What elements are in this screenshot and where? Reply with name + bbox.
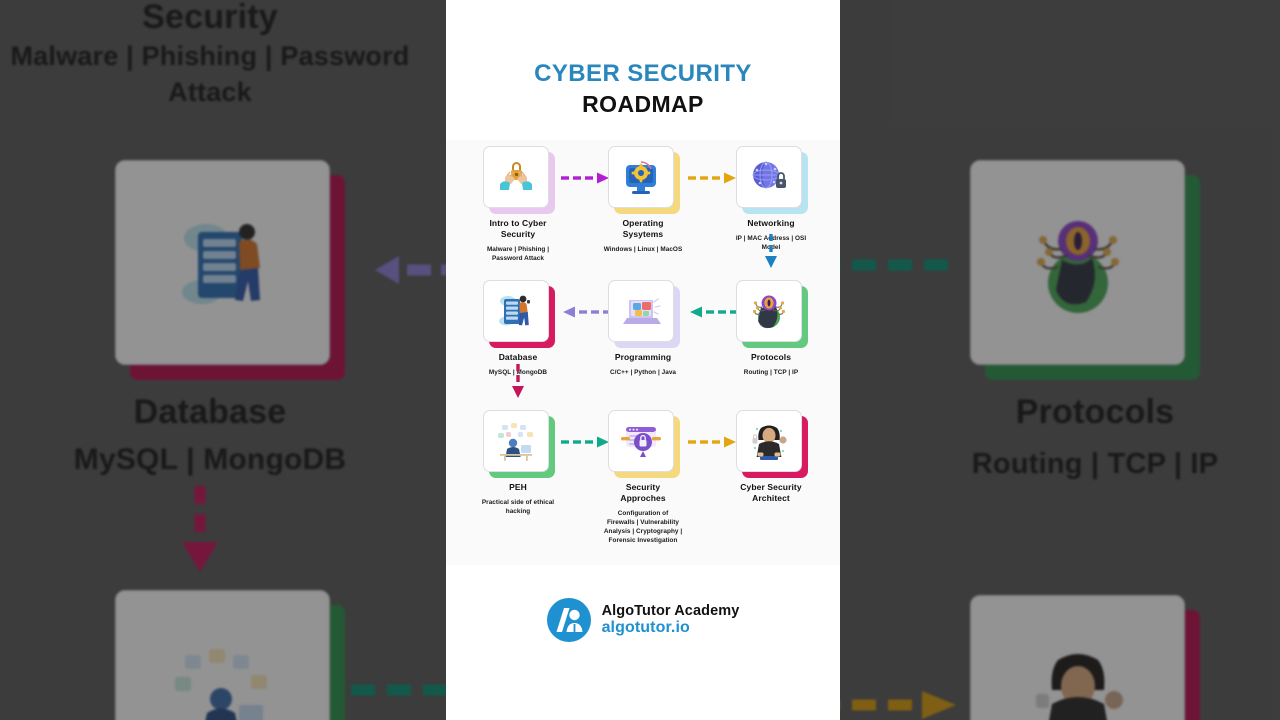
connector-networking-to-protocols [759, 232, 783, 276]
algotutor-logo-icon [547, 598, 591, 642]
card-intro-to-cyber-security[interactable] [483, 146, 549, 208]
roadmap-node-programming[interactable]: Programming C/C++ | Python | Java [603, 280, 683, 377]
brand-url[interactable]: algotutor.io [602, 619, 740, 637]
roadmap-node-cyber-security-architect[interactable]: Cyber Security Architect [731, 410, 811, 508]
browser-lock-icon [619, 422, 663, 460]
card-operating-systems[interactable] [608, 146, 674, 208]
card-security-approches[interactable] [608, 410, 674, 472]
node-subtitle: Practical side of ethical hacking [478, 498, 558, 516]
card-protocols[interactable] [736, 280, 802, 342]
backdrop-left-card-1 [115, 160, 330, 365]
roadmap-node-security-approches[interactable]: Security Approches Configuration of Fire… [603, 410, 683, 545]
monitor-gear-icon [620, 157, 662, 197]
node-title: Security Approches [603, 482, 683, 503]
node-title: Intro to Cyber Security [478, 218, 558, 239]
backdrop-left-subheading: Malware | Phishing | Password Attack [5, 38, 415, 111]
backdrop-left: Security Malware | Phishing | Password A… [0, 0, 446, 720]
backdrop-right-card-1 [970, 160, 1185, 365]
node-title: Networking [731, 218, 811, 229]
roadmap-node-intro-to-cyber-security[interactable]: Intro to Cyber Security Malware | Phishi… [478, 146, 558, 262]
poster: CYBER SECURITY ROADMAP [446, 0, 840, 720]
footer-brand[interactable]: AlgoTutor Academy algotutor.io [446, 598, 840, 720]
backdrop-left-subheading-2: MySQL | MongoDB [0, 440, 420, 481]
roadmap-board: Intro to Cyber Security Malware | Phishi… [446, 140, 840, 565]
backdrop-right-arrow-3 [840, 685, 990, 720]
node-subtitle: Routing | TCP | IP [731, 368, 811, 377]
backdrop-right-subheading-2: Routing | TCP | IP [880, 445, 1280, 484]
globe-lock-icon [748, 158, 790, 196]
backdrop-left-card-2 [115, 590, 330, 720]
card-database[interactable] [483, 280, 549, 342]
poster-header: CYBER SECURITY ROADMAP [446, 0, 840, 118]
backdrop-left-heading: Security [0, 0, 420, 41]
globe-network-icon [748, 291, 790, 331]
backdrop-left-arrow-1 [345, 250, 446, 295]
node-title: Cyber Security Architect [731, 482, 811, 503]
node-subtitle: Malware | Phishing | Password Attack [478, 245, 558, 263]
node-subtitle: Configuration of Firewalls | Vulnerabili… [603, 509, 683, 545]
hacker-desk-icon [493, 421, 539, 461]
roadmap-node-operating-systems[interactable]: Operating Sysytems Windows | Linux | Mac… [603, 146, 683, 253]
backdrop-right-card-2 [970, 595, 1185, 720]
roadmap-node-peh[interactable]: PEH Practical side of ethical hacking [478, 410, 558, 516]
backdrop-left-arrow-3 [345, 675, 446, 710]
card-programming[interactable] [608, 280, 674, 342]
backdrop-right: IP | MAC Address | OSI Model [840, 0, 1280, 720]
page-title-line2: ROADMAP [446, 90, 840, 119]
node-subtitle: C/C++ | Python | Java [603, 368, 683, 377]
backdrop-right-heading-2: Protocols [880, 390, 1280, 436]
backdrop-right-arrow-2 [840, 250, 980, 285]
card-cyber-security-architect[interactable] [736, 410, 802, 472]
laptop-code-icon [619, 292, 663, 330]
server-person-icon [495, 291, 537, 331]
brand-name: AlgoTutor Academy [602, 603, 740, 619]
card-networking[interactable] [736, 146, 802, 208]
backdrop-left-arrow-2 [170, 480, 230, 595]
hooded-hacker-icon [748, 422, 790, 460]
node-title: Programming [603, 352, 683, 363]
card-peh[interactable] [483, 410, 549, 472]
backdrop-left-heading-2: Database [0, 390, 420, 436]
roadmap-node-protocols[interactable]: Protocols Routing | TCP | IP [731, 280, 811, 377]
hands-holding-lock-icon [494, 157, 538, 197]
node-title: Operating Sysytems [603, 218, 683, 239]
page-title-line1: CYBER SECURITY [446, 60, 840, 88]
node-title: PEH [478, 482, 558, 493]
connector-database-to-peh [506, 362, 530, 406]
node-subtitle: Windows | Linux | MacOS [603, 245, 683, 254]
node-title: Protocols [731, 352, 811, 363]
